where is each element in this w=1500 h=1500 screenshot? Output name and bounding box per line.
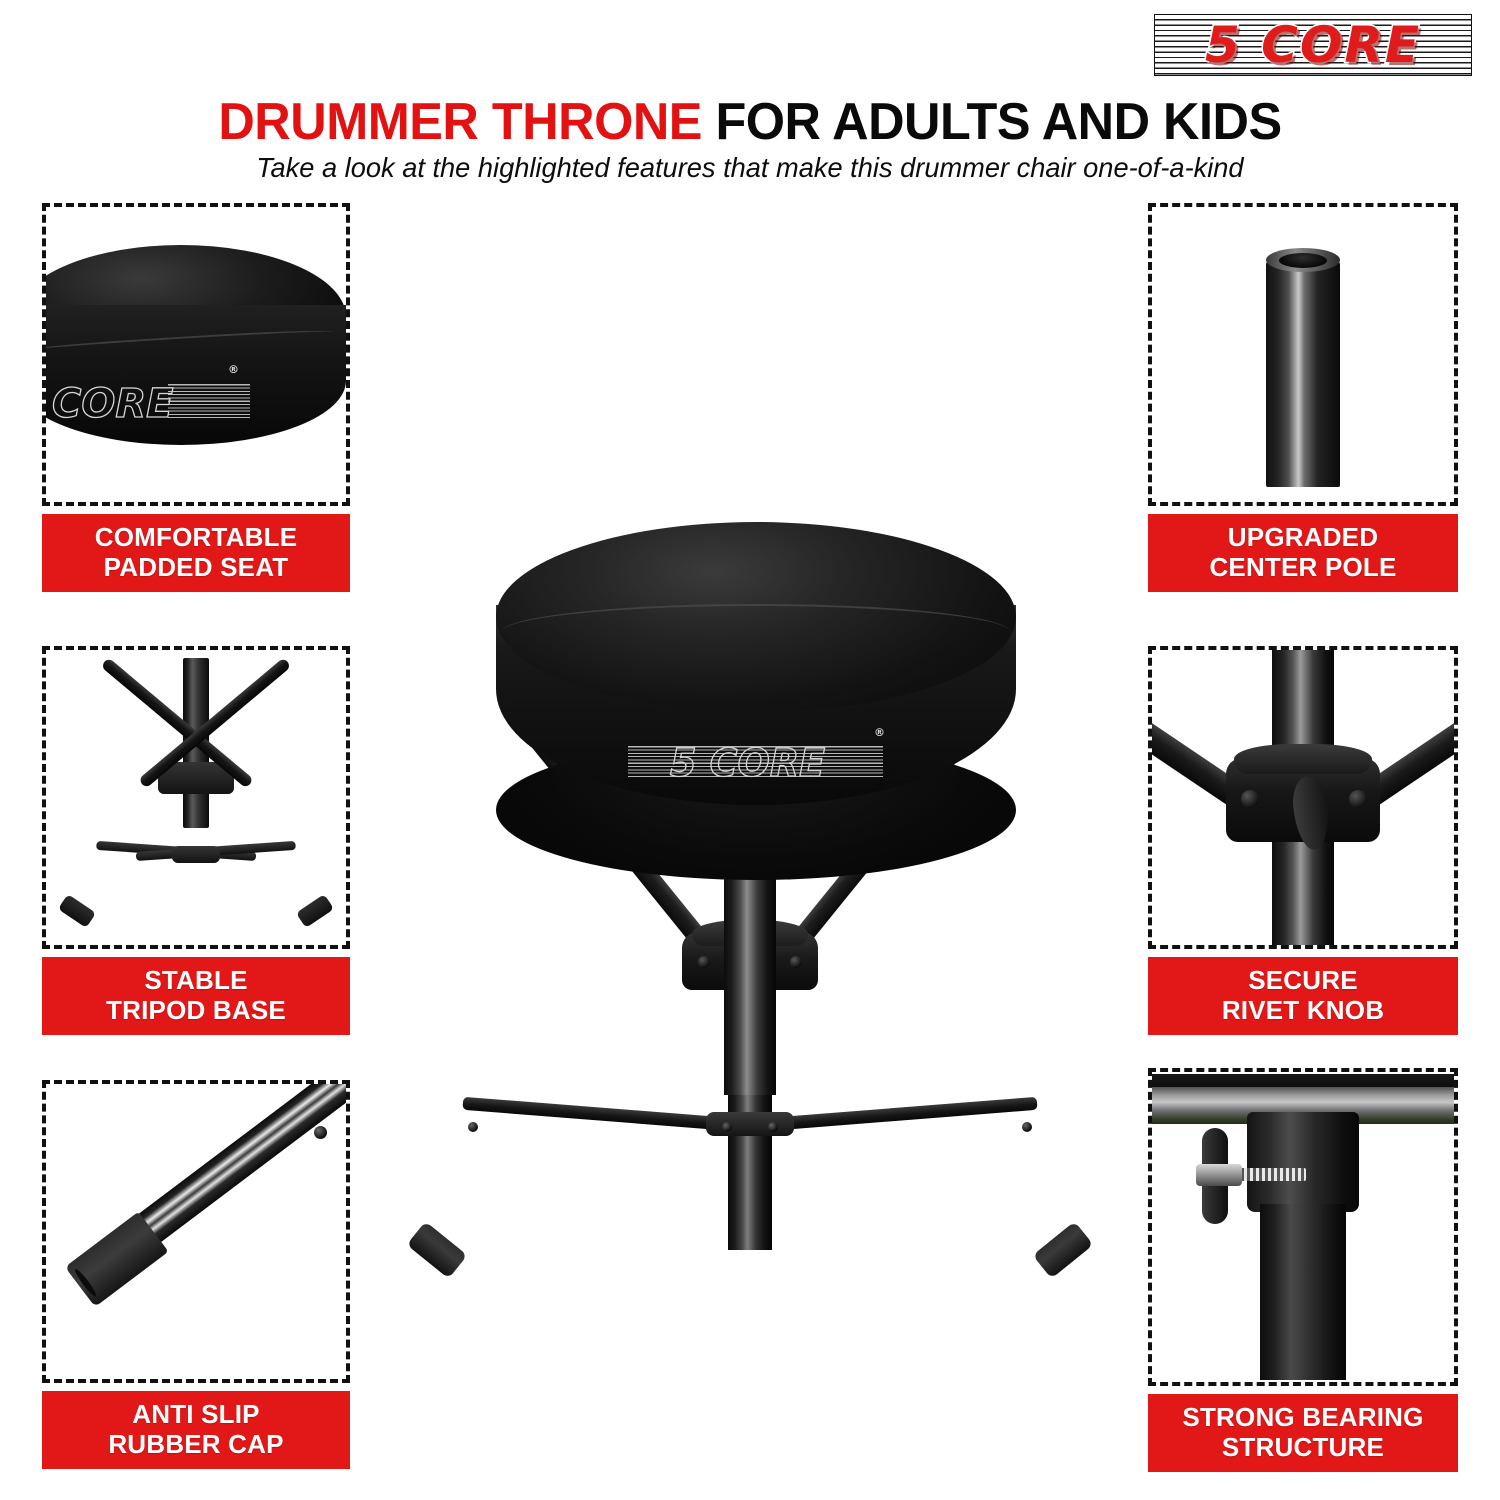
feature-panel-upgraded-center-pole: UPGRADED CENTER POLE [1148, 203, 1458, 592]
leg-bolt [314, 1126, 327, 1139]
hero-brace-bolt-center-left [722, 1122, 732, 1132]
hero-seat-stitch-seam [502, 604, 1010, 660]
product-infographic: 5 CORE DRUMMER THRONE FOR ADULTS AND KID… [0, 0, 1500, 1500]
rubber-cap-closeup-illustration [46, 1084, 346, 1379]
feature-panel-comfortable-padded-seat: CORE ® COMFORTABLE PADDED SEAT [42, 203, 350, 592]
hero-seat-badge-text: 5 CORE [670, 741, 825, 785]
feature-image-bearing-structure [1148, 1068, 1458, 1386]
feature-panel-strong-bearing-structure: STRONG BEARING STRUCTURE [1148, 1068, 1458, 1472]
hero-brace-hub [706, 1112, 794, 1136]
center-pole-bore [1279, 253, 1327, 268]
hero-seat-badge-registered: ® [874, 726, 885, 739]
bearing-pole [1260, 1204, 1346, 1380]
bearing-structure-closeup-illustration [1152, 1072, 1454, 1382]
page-subtitle: Take a look at the highlighted features … [8, 152, 1493, 184]
feature-label-line2: CENTER POLE [1154, 553, 1452, 583]
feature-image-rubber-cap [42, 1080, 350, 1383]
feature-label-line2: TRIPOD BASE [48, 996, 344, 1026]
feature-label-secure-rivet-knob: SECURE RIVET KNOB [1148, 957, 1458, 1035]
feature-image-tripod-base [42, 646, 350, 949]
feature-label-line1: COMFORTABLE [48, 523, 344, 553]
tripod-foot-left [58, 894, 96, 928]
hero-brace-bolt-left [468, 1122, 478, 1132]
feature-image-padded-seat: CORE ® [42, 203, 350, 506]
padded-seat-closeup-illustration: CORE ® [42, 245, 346, 460]
feature-panel-stable-tripod-base: STABLE TRIPOD BASE [42, 646, 350, 1035]
bearing-sleeve [1247, 1112, 1359, 1212]
page-title-red: DRUMMER THRONE [218, 93, 702, 151]
feature-label-comfortable-padded-seat: COMFORTABLE PADDED SEAT [42, 514, 350, 592]
feature-label-line2: PADDED SEAT [48, 553, 344, 583]
hero-brace-bolt-center-right [768, 1122, 778, 1132]
feature-label-stable-tripod-base: STABLE TRIPOD BASE [42, 957, 350, 1035]
page-title-black: FOR ADULTS AND KIDS [715, 93, 1281, 151]
hero-rivet-left [698, 956, 710, 968]
feature-label-line1: UPGRADED [1154, 523, 1452, 553]
feature-image-center-pole [1148, 203, 1458, 506]
rivet-right [1349, 790, 1367, 808]
seat-core-badge-registered: ® [228, 363, 239, 376]
feature-label-line2: RIVET KNOB [1154, 996, 1452, 1026]
feature-label-line2: STRUCTURE [1154, 1433, 1452, 1463]
feature-panel-anti-slip-rubber-cap: ANTI SLIP RUBBER CAP [42, 1080, 350, 1469]
feature-label-line1: STABLE [48, 966, 344, 996]
feature-label-line2: RUBBER CAP [48, 1430, 344, 1460]
logo-text: 5 CORE [1154, 14, 1472, 76]
feature-label-line1: STRONG BEARING [1154, 1403, 1452, 1433]
tripod-base-closeup-illustration [46, 650, 346, 945]
hero-foot-left [407, 1221, 468, 1278]
hero-product-drummer-throne: 5 CORE ® [380, 500, 1120, 1300]
wing-bolt-knob [1202, 1128, 1228, 1224]
feature-label-strong-bearing-structure: STRONG BEARING STRUCTURE [1148, 1394, 1458, 1472]
feature-label-line1: SECURE [1154, 966, 1452, 996]
page-title: DRUMMER THRONE FOR ADULTS AND KIDS [23, 92, 1478, 152]
feature-label-line1: ANTI SLIP [48, 1400, 344, 1430]
tripod-brace-hub [172, 846, 220, 863]
feature-label-anti-slip-rubber-cap: ANTI SLIP RUBBER CAP [42, 1391, 350, 1469]
seat-core-badge-text: CORE [52, 381, 173, 427]
feature-panel-secure-rivet-knob: SECURE RIVET KNOB [1148, 646, 1458, 1035]
feature-label-upgraded-center-pole: UPGRADED CENTER POLE [1148, 514, 1458, 592]
hero-foot-right [1033, 1221, 1094, 1278]
hero-rivet-right [790, 956, 802, 968]
rivet-left [1241, 790, 1259, 808]
hero-center-pole-upper [724, 845, 776, 1095]
feature-image-rivet-knob [1148, 646, 1458, 949]
brand-logo-5core: 5 CORE [1154, 14, 1472, 76]
hero-brace-bolt-right [1022, 1122, 1032, 1132]
center-pole-closeup-illustration [1266, 259, 1340, 487]
tripod-foot-right [296, 894, 334, 928]
seat-core-badge-lines [168, 382, 250, 418]
rivet-knob-closeup-illustration [1152, 650, 1454, 945]
center-pole-tube [1266, 259, 1340, 487]
